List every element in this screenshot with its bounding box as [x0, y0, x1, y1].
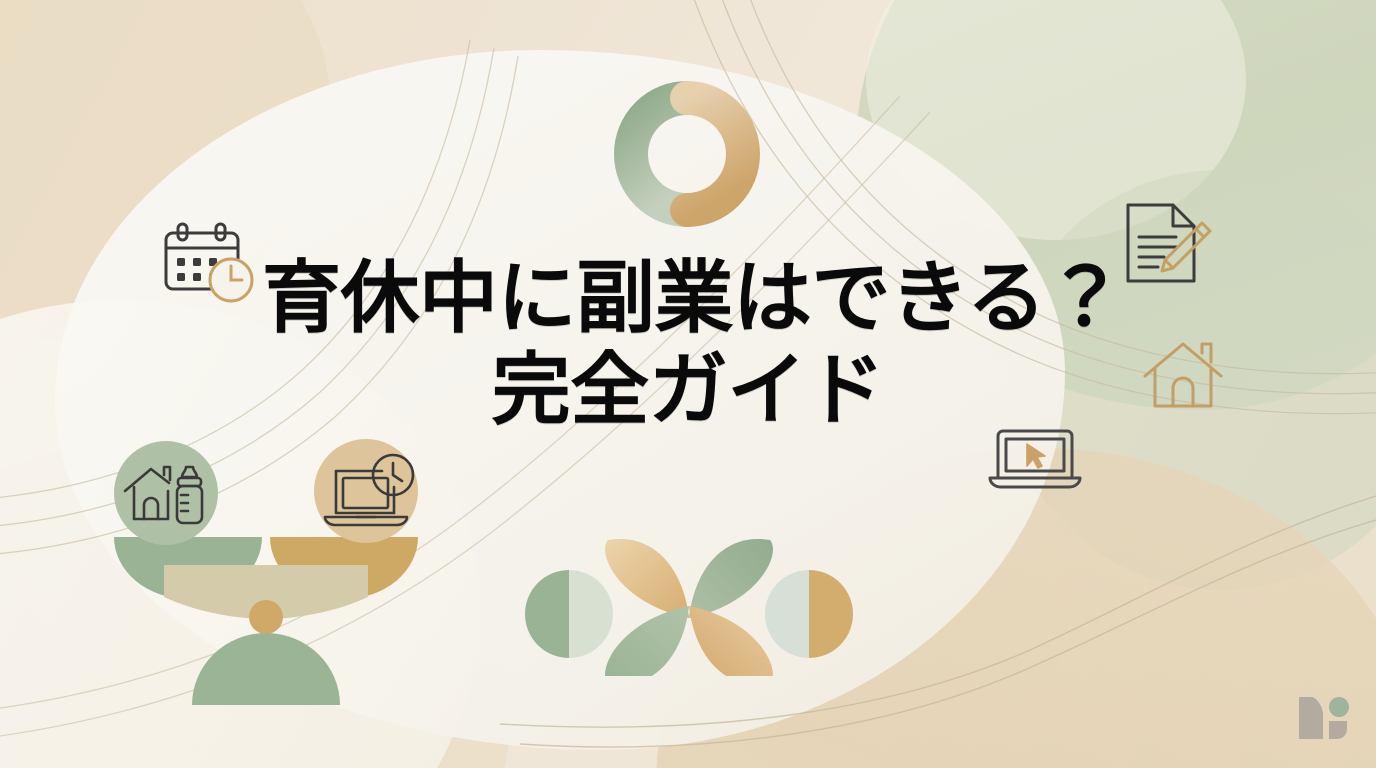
page-title-line-2: 完全ガイド — [0, 348, 1376, 432]
slide-canvas: 育休中に副業はできる？ 完全ガイド — [0, 0, 1376, 768]
side-circle-right — [764, 570, 854, 658]
four-petal-flower — [524, 528, 854, 676]
logo-dot — [1329, 697, 1349, 717]
petal-bottom-right — [689, 606, 773, 676]
petal-bottom-left — [605, 606, 689, 676]
flower-petals — [605, 528, 773, 676]
scale-left-icon-badge — [114, 441, 218, 545]
donut-segment-green — [631, 98, 687, 210]
title-block: 育休中に副業はできる？ 完全ガイド — [0, 256, 1376, 431]
scale-right-icon-badge — [314, 439, 418, 543]
logo-mark-stem — [1329, 721, 1347, 739]
page-title-line-1: 育休中に副業はできる？ — [0, 256, 1376, 340]
laptop-cursor-icon — [986, 424, 1084, 496]
side-circle-left — [524, 570, 614, 658]
brand-logo[interactable] — [1295, 693, 1351, 743]
scale-pivot — [249, 600, 283, 634]
donut-segment-tan — [687, 98, 743, 210]
donut-chart — [614, 81, 760, 227]
scale-base — [192, 633, 340, 705]
petal-top-right — [689, 539, 773, 618]
cursor-arrow-icon — [1027, 444, 1045, 468]
logo-mark-d — [1299, 697, 1323, 739]
petal-top-left — [605, 539, 689, 618]
balance-scale — [96, 425, 436, 705]
